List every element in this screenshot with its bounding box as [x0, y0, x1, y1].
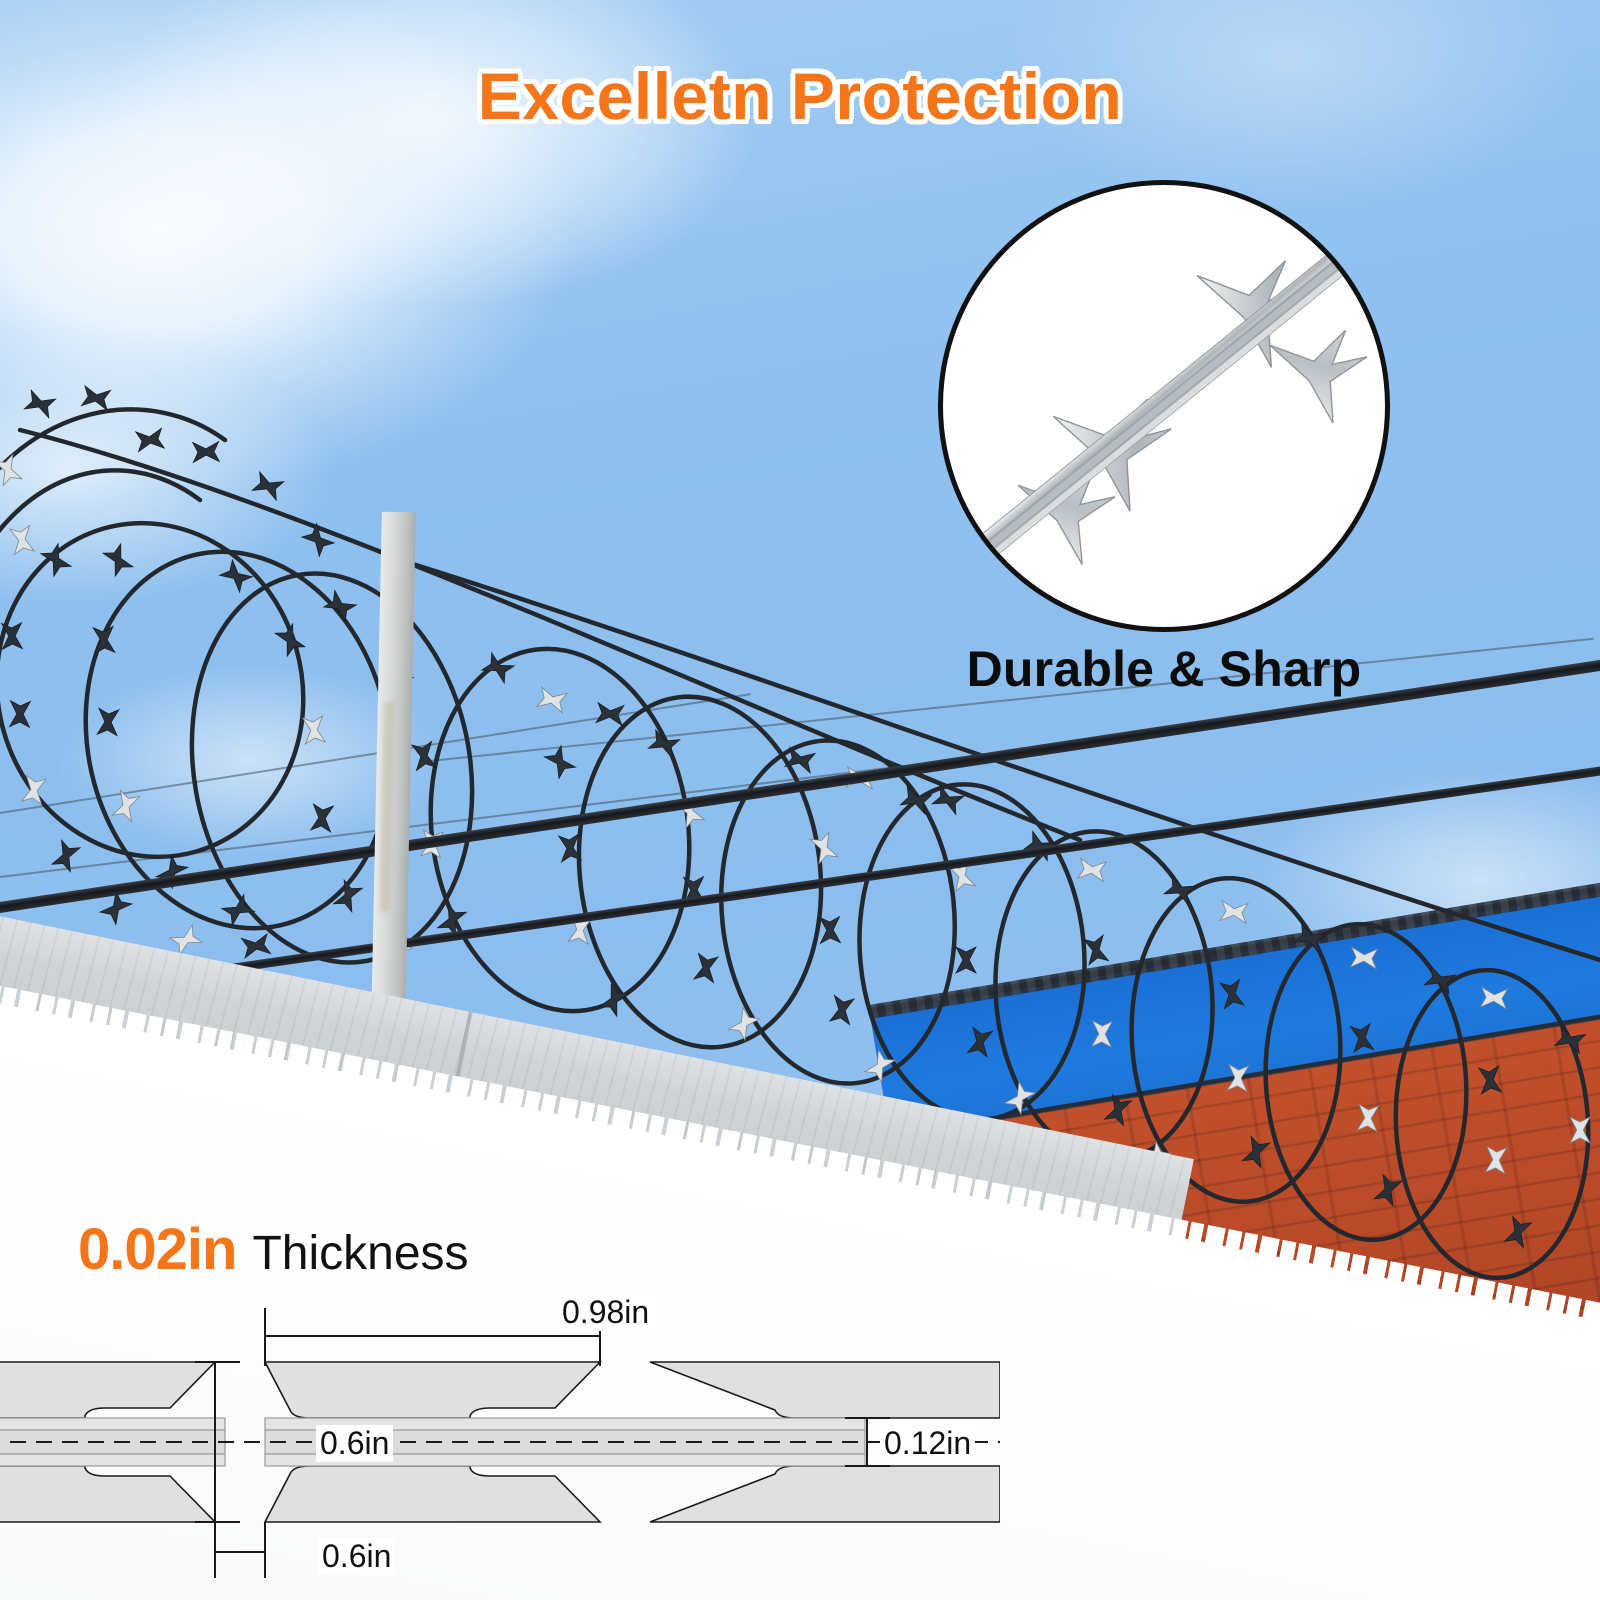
callout-label: Durable & Sharp — [938, 640, 1390, 698]
post-stain — [379, 702, 393, 912]
page-title: Excelletn Protection — [0, 58, 1600, 134]
product-infographic: Excelletn Protection — [0, 0, 1600, 1600]
barb-dimension-diagram — [0, 1290, 1000, 1600]
barb-closeup-illustration — [943, 185, 1385, 627]
thickness-value: 0.02in — [78, 1217, 236, 1282]
dimension-label-barb-height: 0.6in — [316, 1425, 393, 1462]
dimension-label-wire-height: 0.12in — [880, 1425, 975, 1462]
thickness-heading: 0.02inThickness — [78, 1216, 469, 1283]
dimension-barb-width — [265, 1308, 600, 1366]
dimension-label-barb-width: 0.98in — [558, 1294, 653, 1331]
thickness-label: Thickness — [252, 1227, 468, 1280]
dimension-label-barb-pitch: 0.6in — [318, 1538, 395, 1575]
dimension-barb-pitch — [215, 1522, 265, 1578]
detail-callout-circle — [938, 180, 1390, 632]
